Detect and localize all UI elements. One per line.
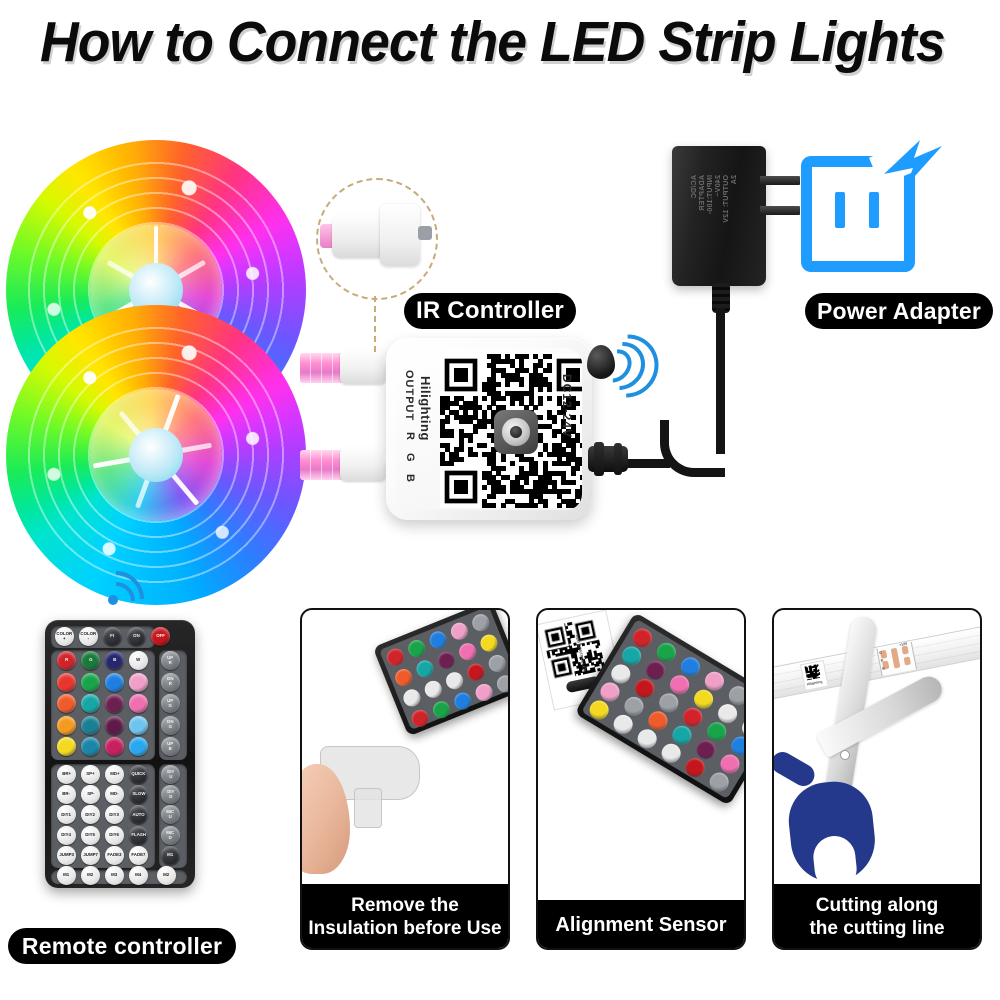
remote-button[interactable]: DIYU [161,765,180,784]
remote-button[interactable]: B [105,651,124,670]
remote-button-label: DNG [167,721,173,730]
remote-button[interactable]: JUMP3 [57,846,76,865]
strip-label-b: B [882,666,885,670]
remote-button[interactable]: M2 [81,866,100,885]
remote-button-label: M1 [167,853,173,857]
remote-button[interactable]: COLOR- [79,627,98,646]
mini-remote-button [478,632,500,654]
remote-button-label: M4 [135,873,141,877]
mini-remote-button [465,661,487,683]
wifi-signal-icon [88,565,144,607]
remote-button[interactable] [105,737,124,756]
remote-button[interactable]: G [81,651,100,670]
remote-button[interactable] [57,694,76,713]
adapter-cable-bend [660,420,725,477]
page-title: How to Connect the LED Strip Lights [40,12,914,74]
remote-button-label: MD- [110,793,118,797]
strip-connector-bottom[interactable] [340,447,386,481]
power-adapter-label: Power Adapter [805,293,993,329]
callout-connector-pin [418,226,432,240]
remote-button-label: R [65,658,68,662]
mini-remote-button [401,687,423,709]
remote-button-label: DIY6 [110,833,120,837]
strip-tail-top [300,353,344,383]
ir-controller-channel-g: G [404,453,416,462]
callout-connector-male [380,204,420,266]
panel-caption: Alignment Sensor [536,900,746,950]
ir-controller-brand: Hilighting [418,376,433,441]
mini-remote-button [414,658,436,680]
remote-button[interactable] [57,716,76,735]
remote-button-label: G [89,658,92,662]
panel-caption: Remove the Insulation before Use [300,884,510,950]
remote-button-label: SP- [87,793,94,797]
remote-button-label: DIYU [167,770,174,779]
strip-connector-top[interactable] [340,350,386,384]
remote-button[interactable]: M1 [57,866,76,885]
remote-button[interactable]: UPG [161,694,180,713]
remote-button[interactable]: FLASH [129,826,148,845]
adapter-prong-upper [760,176,800,185]
outlet-slot-left [835,192,845,228]
ir-controller-channel-r: R [404,432,416,440]
mini-remote-button [393,666,415,688]
mini-remote-button [406,637,428,659]
ir-controller-lens [494,410,538,454]
panel-remove-insulation: Remove the Insulation before Use [300,608,510,950]
remote-button[interactable]: MD+ [105,765,124,784]
remote-button-label: M1 [63,873,69,877]
mini-remote-button [444,670,466,692]
strip-tail-bottom [300,450,344,480]
remote-button[interactable] [81,737,100,756]
remote-button[interactable] [129,694,148,713]
remote-button-label: MD+ [110,772,119,776]
remote-button-label: FLASH [131,833,146,837]
remote-button-label: DIY2 [86,813,96,817]
remote-button[interactable] [129,673,148,692]
strip-cut-zone: +12V G R B [876,642,917,676]
remote-button[interactable] [81,716,100,735]
remote-button-label: FADE3 [107,853,121,857]
remote-button-label: UPR [167,656,173,665]
mini-remote-button [486,652,508,674]
remote-button[interactable] [129,737,148,756]
power-adapter-body[interactable]: AC/DC ADAPTER INPUT:100-240V~ OUTPUT: 12… [672,146,766,286]
ir-controller-face: OUTPUT R G B Hilighting DC12-24V [396,348,582,510]
remote-button[interactable]: UPR [161,651,180,670]
remote-button-label: DIY4 [62,833,72,837]
remote-button-label: QUICK [131,772,145,776]
remote-button-label: AUTO [132,813,144,817]
led-strip-reel-bottom [6,305,306,605]
ir-controller-lens-inner [502,418,529,445]
remote-button[interactable]: DNG [161,716,180,735]
callout-connector-female [332,214,386,258]
infographic-canvas: How to Connect the LED Strip Lights [0,0,1000,1000]
remote-button[interactable]: QUICK [129,765,148,784]
remote-button[interactable]: M1 [161,846,180,865]
remote-button[interactable]: FI [103,627,122,646]
outlet-slot-right [869,192,879,228]
remote-controller-label: Remote controller [8,928,236,964]
remote-button-label: COLOR- [81,632,97,641]
remote-button[interactable] [105,694,124,713]
remote-button-label: JUMP3 [59,853,74,857]
remote-button[interactable]: W [129,651,148,670]
adapter-prong-lower [760,206,800,215]
remote-button[interactable]: MICD [161,826,180,845]
dc-power-jack[interactable] [588,446,628,472]
remote-button-label: FI [111,634,115,638]
remote-button-label: B [113,658,116,662]
remote-button-label: M2 [87,873,93,877]
remote-button[interactable]: R [57,651,76,670]
remote-button-label: JUMP7 [83,853,98,857]
remote-button-label: DIYD [167,790,174,799]
remote-button[interactable] [57,737,76,756]
mini-remote-button [494,673,510,695]
panel-cutting-line: Hilighting +12V G R B Cutting along the … [772,608,982,950]
strip-qr-tag: Hilighting [800,660,829,691]
connector-zoom-callout [316,178,438,300]
remote-button-label: DIY3 [110,813,120,817]
remote-button-label: MICD [166,831,174,840]
mini-remote-button [427,629,449,651]
remote-button[interactable] [81,673,100,692]
mini-remote-button [470,612,492,634]
insulation-tab-nub [354,788,382,828]
remote-button[interactable] [129,716,148,735]
ir-controller-channel-b: B [404,474,416,482]
mini-remote-button [409,707,431,729]
remote-button[interactable]: M2 [157,866,176,885]
led-strip-to-cut: Hilighting +12V G R B [772,623,982,701]
panel-alignment-sensor: LED CONTROLLER Alignment Sensor [536,608,746,950]
remote-button[interactable]: SP+ [81,765,100,784]
remote-button[interactable]: DNR [161,673,180,692]
remote-button-label: DNR [167,678,173,687]
remote-button[interactable]: JUMP7 [81,846,100,865]
mini-remote-button [430,699,452,721]
remote-button[interactable] [105,716,124,735]
panel-caption: Cutting along the cutting line [772,884,982,950]
ir-signal-wave-3 [582,321,671,410]
scissors-pivot [840,750,850,760]
remote-button-label: M3 [111,873,117,877]
remote-button[interactable]: FADE7 [129,846,148,865]
strip-label-g: G [879,651,883,655]
remote-button[interactable]: UPB [161,737,180,756]
remote-button[interactable] [81,694,100,713]
mini-remote-button [457,641,479,663]
strip-label-r: R [880,659,883,663]
remote-button[interactable]: DIY4 [57,826,76,845]
mini-remote-button [384,646,406,668]
remote-button-label: COLOR+ [57,632,73,641]
ir-controller-body[interactable]: OUTPUT R G B Hilighting DC12-24V [386,338,592,520]
remote-button[interactable]: BR+ [57,765,76,784]
remote-button-label: UPG [167,699,173,708]
scissors-handle-left [772,748,818,790]
remote-button-label: BR+ [62,772,71,776]
mini-remote-button [422,678,444,700]
remote-button-label: SP+ [86,772,94,776]
remote-button[interactable]: DIY5 [81,826,100,845]
remote-button-label: W [136,658,140,662]
remote-controller-body[interactable]: COLOR+COLOR-FIONOFFRGBWUPRDNRUPGDNGUPBBR… [45,620,195,888]
mini-remote-button [452,690,474,712]
mini-remote-button [448,620,470,642]
remote-button[interactable]: FADE3 [105,846,124,865]
remote-button[interactable] [57,673,76,692]
remote-button-label: SLOW [132,793,145,797]
remote-button-label: ON [133,634,140,638]
ir-controller-label: IR Controller [404,293,576,329]
remote-button-label: UPB [167,742,173,751]
remote-button[interactable] [105,673,124,692]
mini-remote-button [435,649,457,671]
mini-remote-button [473,681,495,703]
reel-core [129,428,183,482]
strip-brand: Hilighting [807,680,823,687]
remote-button-label: DIY1 [62,813,72,817]
remote-button[interactable]: COLOR+ [55,627,74,646]
remote-button-label: OFF [156,634,165,638]
lightning-bolt-icon [880,140,946,198]
remote-button-label: MICU [166,811,174,820]
remote-button-label: M2 [163,873,169,877]
remote-button[interactable]: DIY6 [105,826,124,845]
remote-button[interactable]: OFF [151,627,170,646]
remote-button-label: DIY5 [86,833,96,837]
power-adapter-spec-text: AC/DC ADAPTER INPUT:100-240V~ OUTPUT: 12… [691,175,739,233]
callout-leader-line [374,296,376,352]
remote-button[interactable]: M4 [129,866,148,885]
ir-controller-output-label: OUTPUT [403,370,415,421]
remote-button[interactable]: M3 [105,866,124,885]
remote-button-label: BR- [63,793,71,797]
remote-button[interactable]: ON [127,627,146,646]
ir-controller-voltage: DC12-24V [560,374,574,438]
remote-button-label: FADE7 [131,853,145,857]
mini-remote-tilted [373,608,510,736]
